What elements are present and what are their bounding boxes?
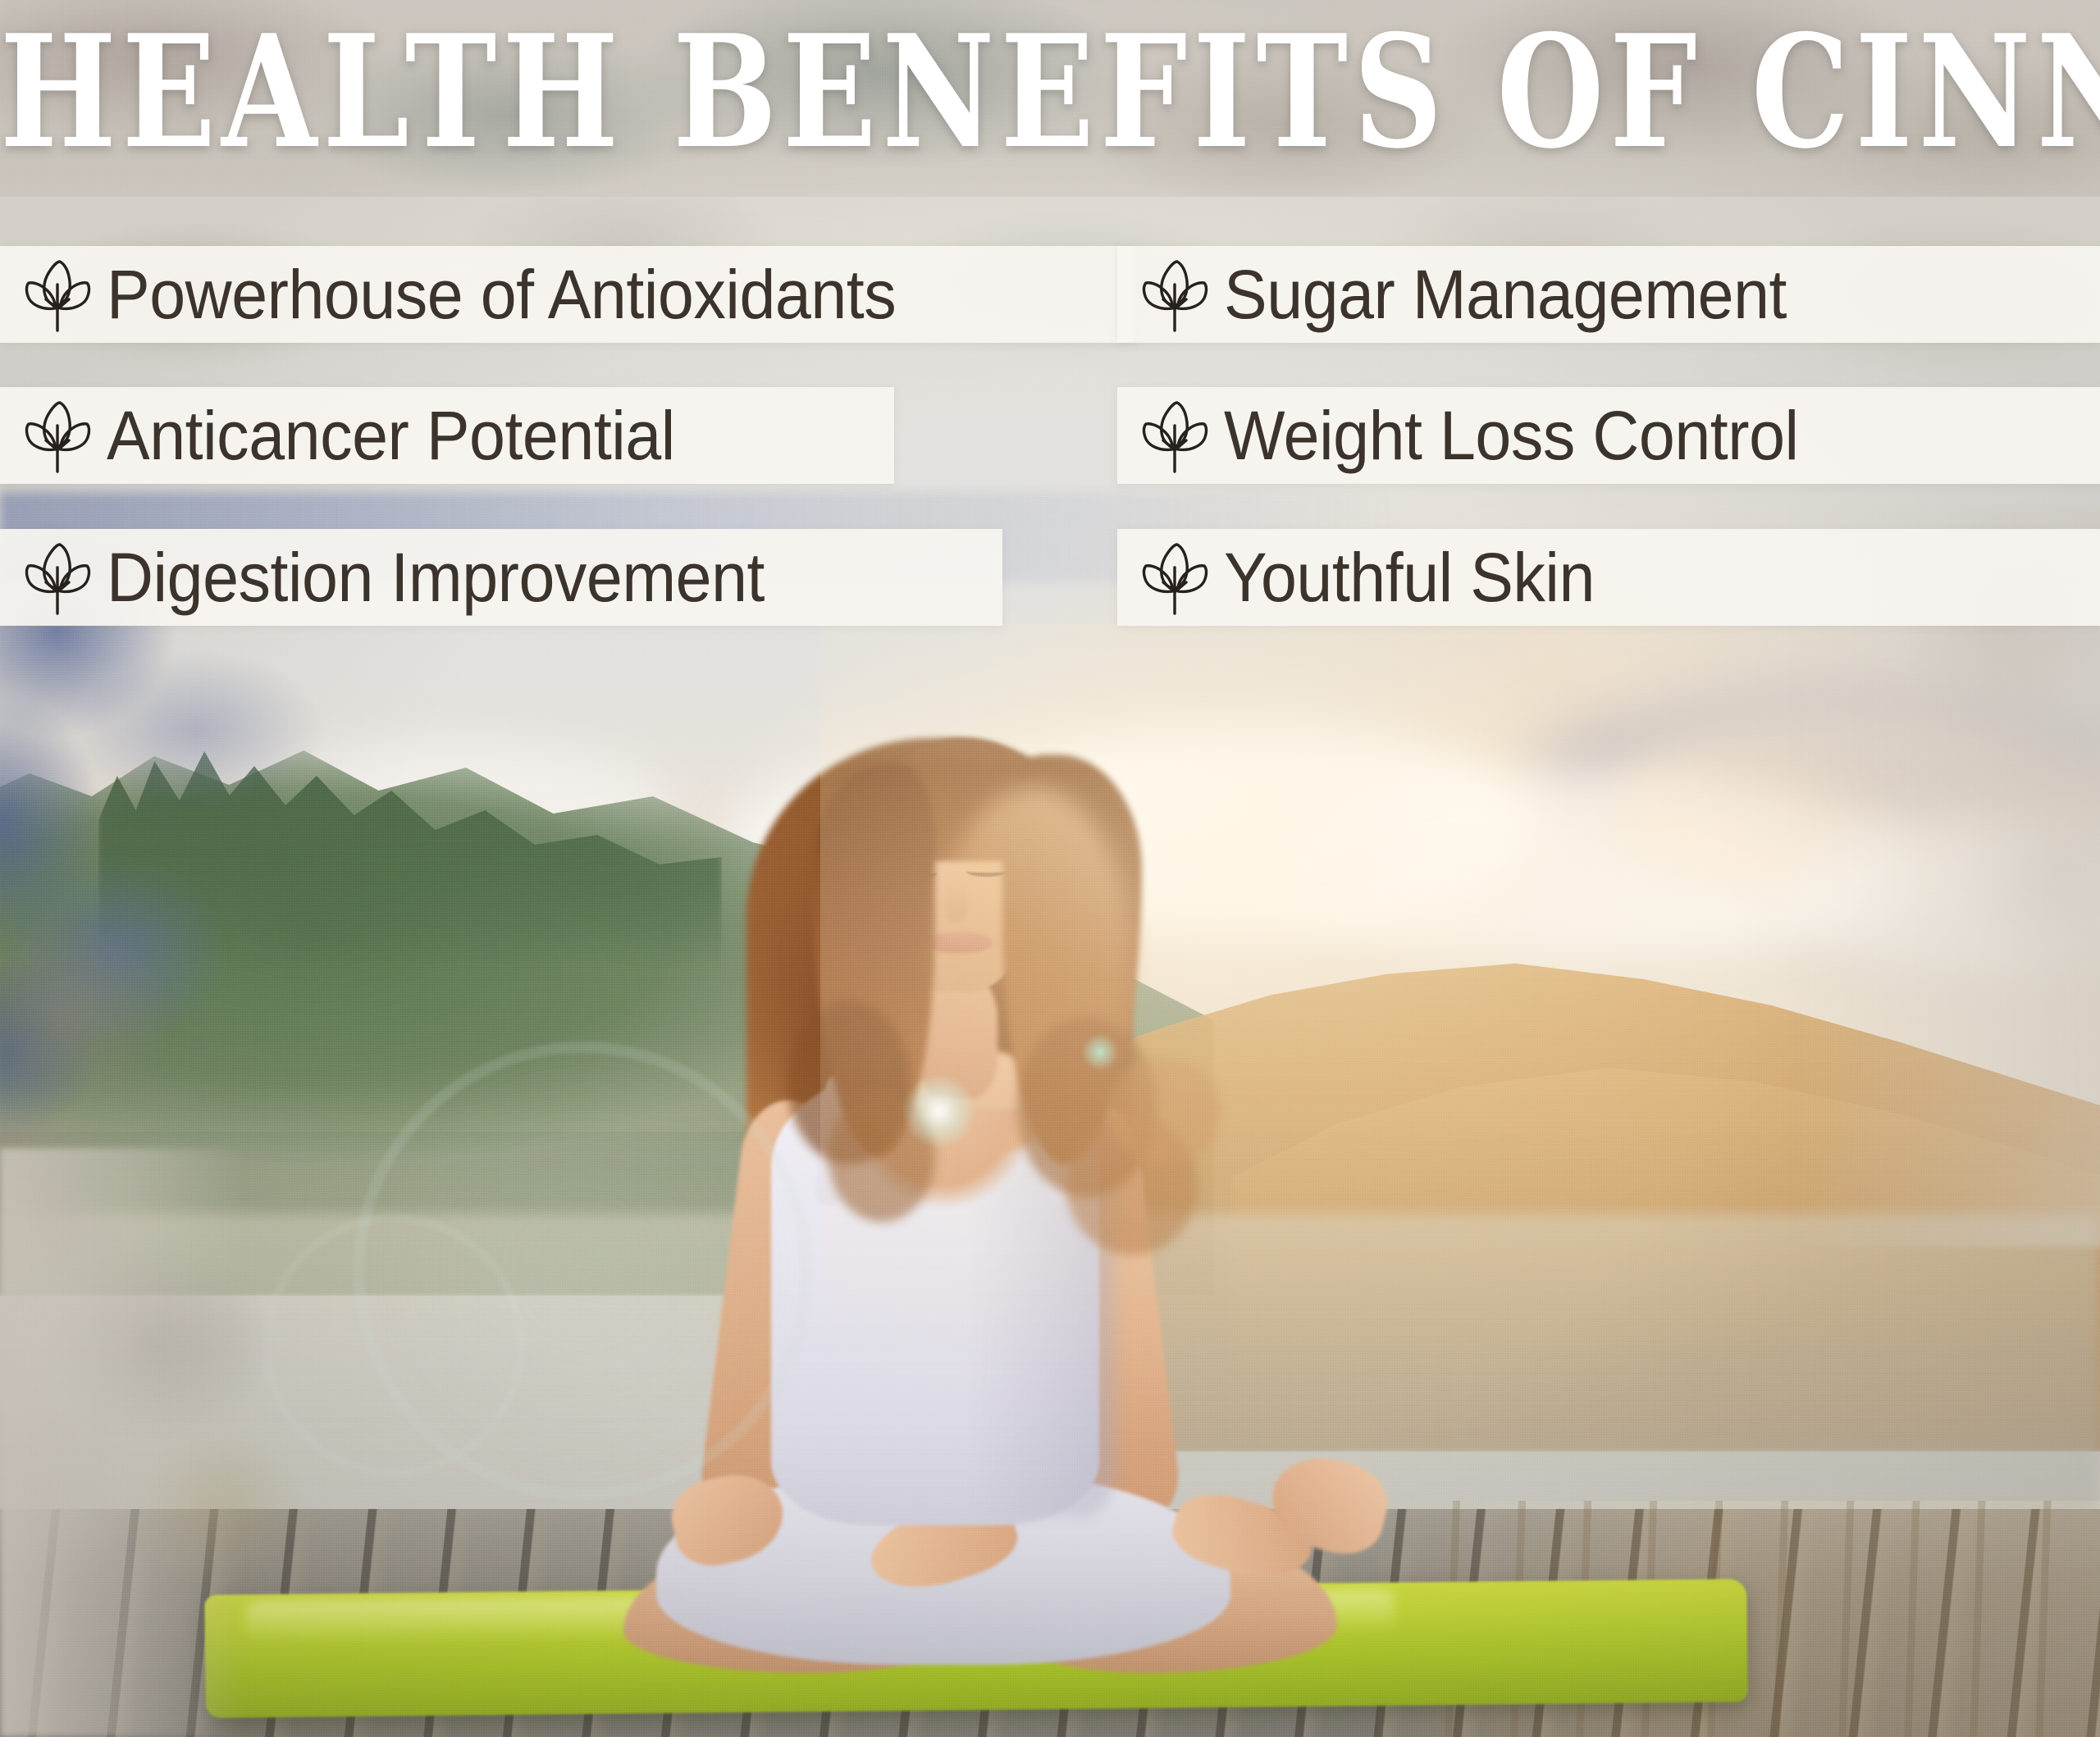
benefit-item-sugar-management[interactable]: Sugar Management bbox=[1117, 246, 2100, 343]
leaf-sprig-icon bbox=[1139, 535, 1209, 620]
lens-flare bbox=[902, 1074, 976, 1148]
benefit-item-weight-loss-control[interactable]: Weight Loss Control bbox=[1117, 387, 2100, 484]
benefit-label: Sugar Management bbox=[1224, 260, 1787, 329]
leaf-sprig-icon bbox=[1139, 393, 1209, 478]
leaf-sprig-icon bbox=[21, 393, 92, 478]
benefit-item-anticancer-potential[interactable]: Anticancer Potential bbox=[0, 387, 894, 484]
leaf-sprig-icon bbox=[21, 252, 92, 337]
hair-curl bbox=[1107, 1058, 1222, 1165]
infographic-poster: HEALTH BENEFITS OF CINNAMON Powerhouse o… bbox=[0, 0, 2100, 1737]
benefit-label: Anticancer Potential bbox=[107, 401, 675, 470]
benefit-item-youthful-skin[interactable]: Youthful Skin bbox=[1117, 529, 2100, 626]
leaf-sprig-icon bbox=[21, 535, 92, 620]
benefit-label: Digestion Improvement bbox=[107, 543, 765, 612]
lens-flare-ring bbox=[262, 1214, 525, 1476]
benefit-item-digestion-improvement[interactable]: Digestion Improvement bbox=[0, 529, 1002, 626]
benefit-label: Weight Loss Control bbox=[1224, 401, 1799, 470]
benefit-label: Powerhouse of Antioxidants bbox=[107, 260, 896, 329]
benefit-label: Youthful Skin bbox=[1224, 543, 1595, 612]
benefits-list: Powerhouse of Antioxidants Anticancer Po… bbox=[0, 0, 2100, 738]
benefit-item-powerhouse-of-antioxidants[interactable]: Powerhouse of Antioxidants bbox=[0, 246, 1134, 343]
lens-flare bbox=[1081, 1033, 1119, 1071]
leaf-sprig-icon bbox=[1139, 252, 1209, 337]
